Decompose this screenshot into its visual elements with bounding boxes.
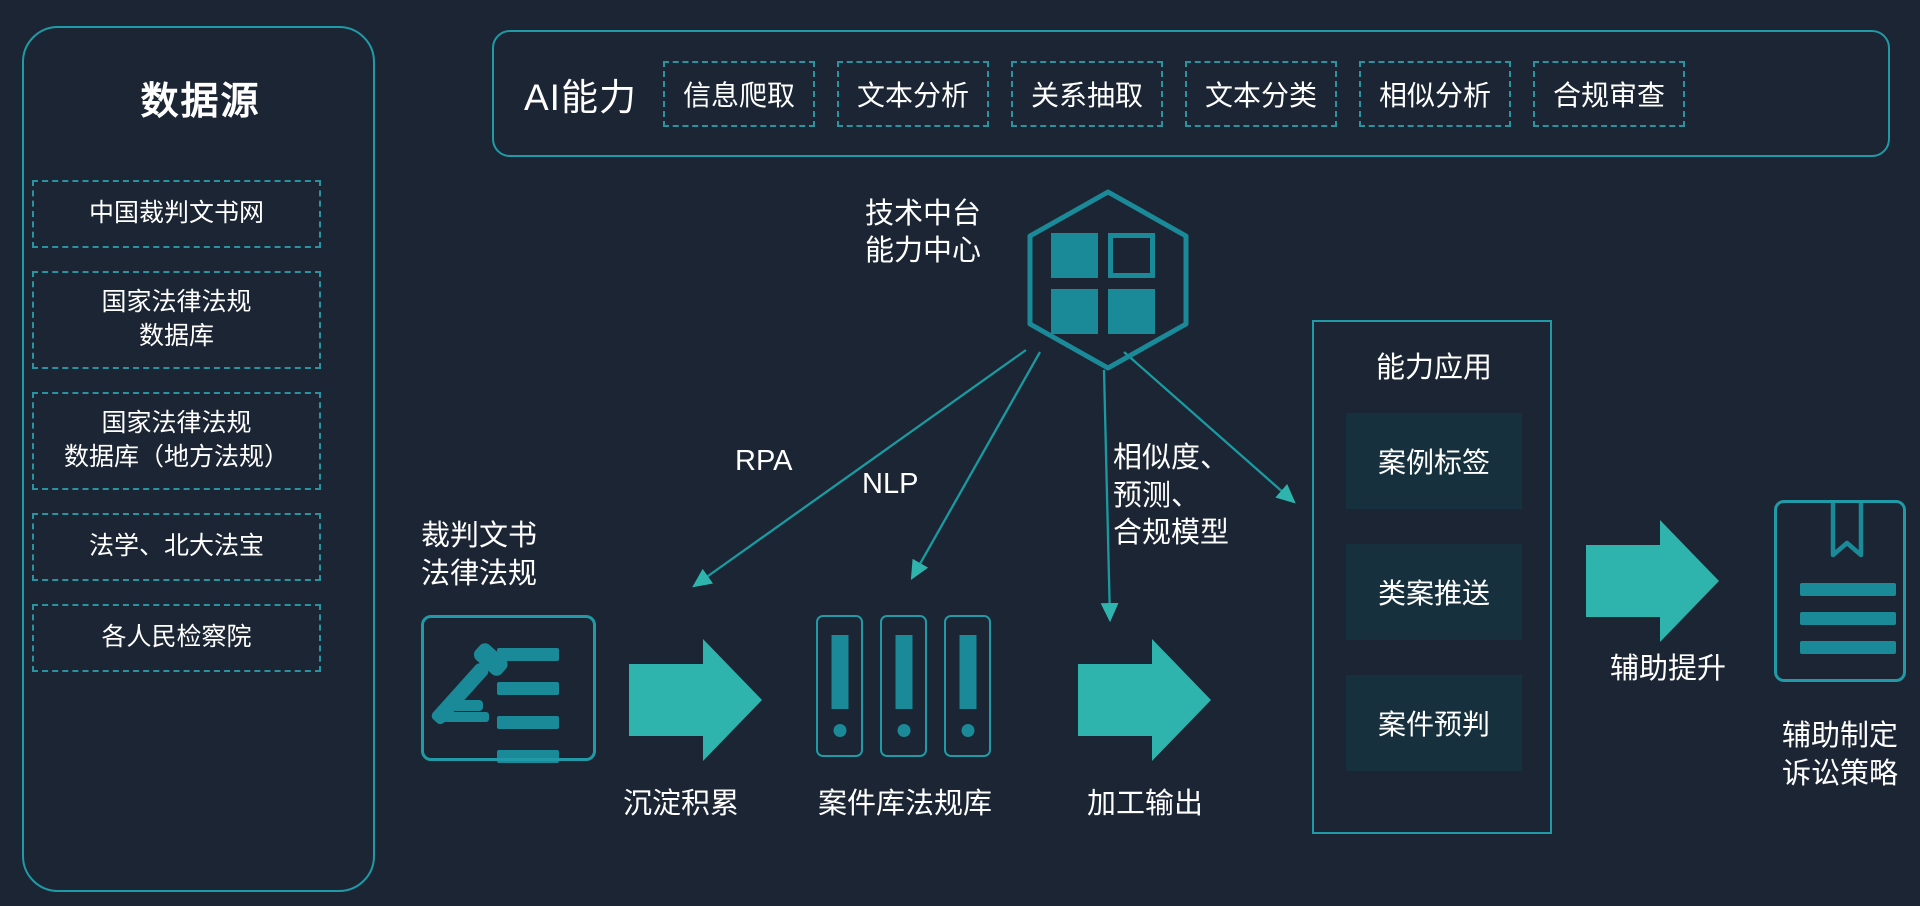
edge-label-similarity: 相似度、 预测、 合规模型 (1113, 440, 1229, 553)
hub-label-line1: 技术中台 (838, 196, 1008, 233)
ai-capability-tag-2[interactable]: 关系抽取 (1011, 61, 1163, 127)
server-bar (959, 635, 976, 709)
data-source-title: 数据源 (24, 70, 377, 125)
data-source-item-0[interactable]: 中国裁判文书网 (32, 180, 321, 248)
edge-hub-to-repository (912, 352, 1040, 578)
data-source-item-4[interactable]: 各人民检察院 (32, 604, 321, 672)
arrow-accumulate-caption: 沉淀积累 (601, 786, 761, 824)
outcome-caption: 辅助制定 诉讼策略 (1740, 718, 1920, 793)
data-source-item-label: 法学、北大法宝 (89, 530, 264, 564)
ai-capability-bar: AI能力 信息爬取 文本分析 关系抽取 文本分类 相似分析 合规审查 (492, 30, 1890, 157)
capability-card-1[interactable]: 类案推送 (1346, 544, 1522, 640)
ai-capability-tag-0[interactable]: 信息爬取 (663, 61, 815, 127)
edge-label-rpa: RPA (735, 443, 792, 481)
documents-title-line2: 法律法规 (421, 556, 537, 594)
edge-hub-to-processing (1104, 370, 1110, 620)
data-source-item-label: 国家法律法规 数据库（地方法规） (64, 407, 289, 475)
ai-capability-tag-4[interactable]: 相似分析 (1359, 61, 1511, 127)
repository-node[interactable] (816, 615, 991, 757)
ai-capability-tag-list: 信息爬取 文本分析 关系抽取 文本分类 相似分析 合规审查 (663, 61, 1685, 127)
ai-capability-tag-3[interactable]: 文本分类 (1185, 61, 1337, 127)
server-bar (895, 635, 912, 709)
arrow-processing-output (1078, 639, 1211, 761)
diagram-canvas: 数据源 中国裁判文书网 国家法律法规 数据库 国家法律法规 数据库（地方法规） … (0, 0, 1920, 906)
capability-card-2[interactable]: 案件预判 (1346, 675, 1522, 771)
server-unit-0 (816, 615, 863, 757)
arrow-assist-elevate (1586, 520, 1719, 642)
ai-capability-title: AI能力 (524, 67, 637, 121)
repository-caption: 案件库法规库 (800, 786, 1010, 824)
data-source-item-2[interactable]: 国家法律法规 数据库（地方法规） (32, 392, 321, 490)
ai-capability-tag-5[interactable]: 合规审查 (1533, 61, 1685, 127)
data-source-item-3[interactable]: 法学、北大法宝 (32, 513, 321, 581)
hub-label: 技术中台 能力中心 (838, 196, 1008, 270)
capability-card-0[interactable]: 案例标签 (1346, 413, 1522, 509)
documents-node[interactable] (421, 615, 596, 761)
server-dot (833, 724, 846, 737)
documents-title-line1: 裁判文书 (421, 518, 537, 556)
data-source-list: 中国裁判文书网 国家法律法规 数据库 国家法律法规 数据库（地方法规） 法学、北… (32, 180, 321, 695)
data-source-item-label: 各人民检察院 (101, 621, 251, 655)
server-unit-1 (880, 615, 927, 757)
data-source-item-label: 国家法律法规 数据库 (101, 286, 251, 354)
hexagon-grid-icon (1030, 192, 1186, 368)
capability-application-panel: 能力应用 案例标签 类案推送 案件预判 (1312, 320, 1552, 834)
arrow-processing-caption: 加工输出 (1065, 786, 1225, 824)
data-source-item-1[interactable]: 国家法律法规 数据库 (32, 271, 321, 369)
server-unit-2 (944, 615, 991, 757)
ai-capability-tag-1[interactable]: 文本分析 (837, 61, 989, 127)
edge-label-nlp: NLP (862, 466, 918, 504)
arrow-accumulate (629, 639, 762, 761)
server-dot (897, 724, 910, 737)
capability-application-title: 能力应用 (1314, 344, 1554, 386)
outcome-caption-line2: 诉讼策略 (1740, 756, 1920, 794)
outcome-caption-line1: 辅助制定 (1740, 718, 1920, 756)
data-source-item-label: 中国裁判文书网 (89, 197, 264, 231)
hub-label-line2: 能力中心 (838, 233, 1008, 270)
server-dot (961, 724, 974, 737)
server-bar (831, 635, 848, 709)
assist-elevate-caption: 辅助提升 (1580, 645, 1756, 687)
outcome-node[interactable] (1774, 500, 1906, 682)
documents-node-title: 裁判文书 法律法规 (421, 518, 537, 593)
